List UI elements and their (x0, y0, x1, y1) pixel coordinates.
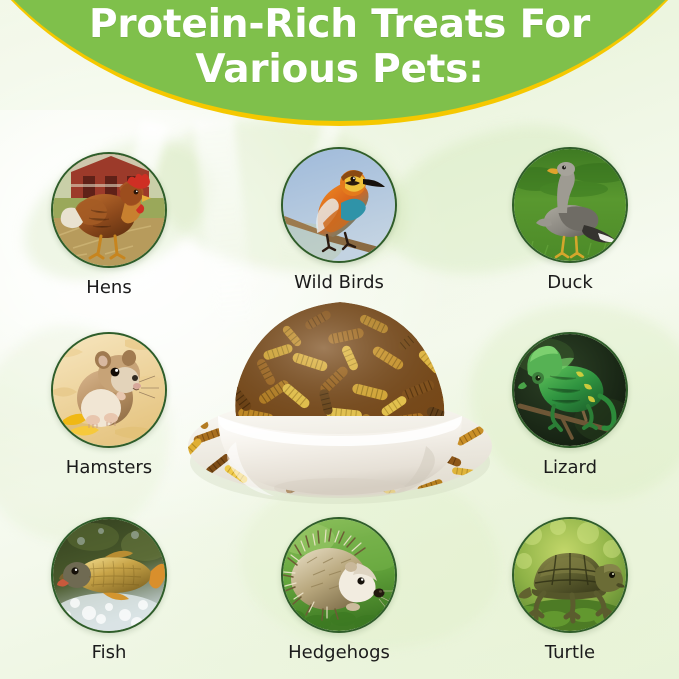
pet-label: Turtle (509, 642, 631, 663)
hedgehog-photo (281, 517, 397, 633)
pet-item-wild-birds: Wild Birds (259, 147, 419, 293)
pet-item-duck: Duck (509, 147, 631, 293)
pet-label: Lizard (509, 457, 631, 478)
pet-label: Hens (48, 277, 170, 298)
pet-label: Wild Birds (259, 272, 419, 293)
page-title: Protein-Rich Treats For Various Pets: (0, 2, 679, 92)
pet-label: Hedgehogs (254, 642, 424, 663)
pet-item-hamsters: Hamsters (39, 332, 179, 478)
lizard-photo (512, 332, 628, 448)
pet-item-lizard: Lizard (509, 332, 631, 478)
pet-item-fish: Fish (48, 517, 170, 663)
bowl-of-mealworms (178, 296, 502, 504)
wild-bird-photo (281, 147, 397, 263)
pet-label: Hamsters (39, 457, 179, 478)
pet-item-hens: Hens (48, 152, 170, 298)
duck-photo (512, 147, 628, 263)
header-banner: Protein-Rich Treats For Various Pets: (0, 0, 679, 126)
hen-photo (51, 152, 167, 268)
poster-root: Protein-Rich Treats For Various Pets: (0, 0, 679, 679)
fish-photo (51, 517, 167, 633)
pet-item-turtle: Turtle (509, 517, 631, 663)
pet-label: Duck (509, 272, 631, 293)
turtle-photo (512, 517, 628, 633)
pet-item-hedgehogs: Hedgehogs (254, 517, 424, 663)
hamster-photo (51, 332, 167, 448)
pet-label: Fish (48, 642, 170, 663)
